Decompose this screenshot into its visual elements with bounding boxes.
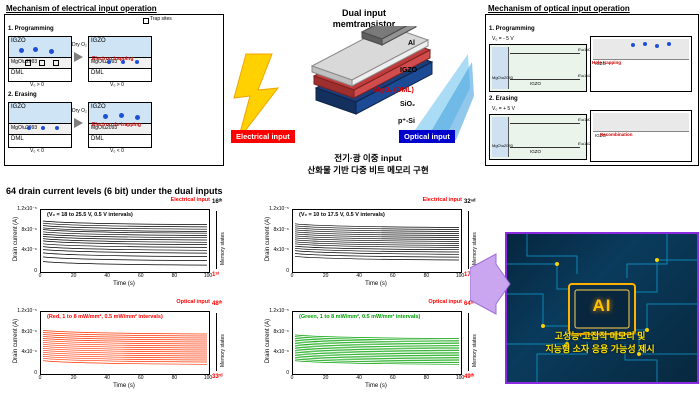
elec-section-1-label: 1. Programming [8, 26, 54, 32]
elec-section-2-label: 2. Erasing [8, 92, 37, 98]
elec-dry-o2-2: Dry O₂ [72, 108, 87, 114]
elec-dev-2-left-bias: V₀ < 0 [30, 148, 44, 154]
ai-korean-caption: 고성능·고집적 메모리 및 지능형 소자 응용 가능성 제시 [505, 330, 695, 356]
y-tick-label: 0 [258, 268, 289, 274]
memory-state-start-label: 49ᵗʰ [464, 374, 474, 380]
memtransistor-stack [300, 26, 440, 131]
x-tick-label: 40 [101, 375, 113, 381]
x-tick-label: 80 [420, 273, 432, 279]
memory-states-axis [216, 211, 217, 269]
elec-dev-2-right-bias: V₀ < 0 [110, 148, 124, 154]
center-caption-line1: 전기·광 이중 input [298, 152, 438, 164]
chart-traces [41, 210, 209, 272]
y-tick-label: 0 [6, 268, 37, 274]
chart-bottom-right: Optical input(Green, 1 to 8 mW/mm², 0.5 … [258, 300, 488, 392]
y-tick-label: 8x10⁻⁶ [6, 329, 37, 335]
chart-input-label: Optical input [428, 299, 462, 305]
y-tick-label: 1.2x10⁻⁵ [258, 206, 289, 212]
y-tick-label: 4x10⁻⁶ [258, 247, 289, 253]
x-axis-label: Time (s) [292, 383, 460, 389]
elec-dev-1-left: IGZO MgO\u2093 DML [8, 36, 72, 82]
y-axis-label: Drain current (A) [13, 199, 19, 279]
memory-state-end-label: 48ᵗʰ [212, 301, 222, 307]
ai-application-image: AI [505, 232, 699, 384]
elec-dev-1-left-bias: V₀ > 0 [30, 82, 44, 88]
memory-states-label: Memory states [220, 215, 226, 265]
x-tick-label: 40 [101, 273, 113, 279]
memory-states-label: Memory states [220, 317, 226, 367]
x-axis-label: Time (s) [292, 281, 460, 287]
opt-bias-2: V₀ = + 5 V [492, 106, 515, 112]
elec-process-2: Electron de-trapping [92, 122, 141, 128]
y-axis-label: Drain current (A) [13, 301, 19, 381]
chart-input-label: Electrical input [171, 197, 210, 203]
memory-states-axis [216, 313, 217, 371]
x-tick-label: 60 [135, 375, 147, 381]
layer-label-sio2: SiO₂ [400, 101, 415, 108]
opt-band-diagram-1: MgO\u2093 IGZO E\u1d04 E\u1d20 [489, 44, 587, 92]
x-tick-label: 0 [286, 375, 298, 381]
chart-traces [41, 312, 209, 374]
center-caption-line2: 산화물 기반 다중 비트 메모리 구현 [298, 164, 438, 176]
chart-bottom-left: Optical input(Red, 1 to 8 mW/mm², 0.5 mW… [6, 300, 236, 392]
memory-state-end-label: 32ⁿᵈ [464, 199, 475, 205]
x-tick-label: 20 [320, 375, 332, 381]
y-tick-label: 8x10⁻⁶ [258, 329, 289, 335]
x-tick-label: 60 [387, 273, 399, 279]
chart-top-left: Electrical input(V₀ = 18 to 25.5 V, 0.5 … [6, 198, 236, 290]
chart-traces [293, 312, 461, 374]
opt-section-2-label: 2. Erasing [489, 96, 518, 102]
chart-traces [293, 210, 461, 272]
flow-arrow-icon [470, 250, 512, 320]
chart-plot-area: (V₀ = 10 to 17.5 V, 0.5 V intervals) [292, 209, 462, 273]
y-tick-label: 0 [258, 370, 289, 376]
memory-states-axis [468, 211, 469, 269]
chart-plot-area: (Green, 1 to 8 mW/mm², 0.5 mW/mm² interv… [292, 311, 462, 375]
y-tick-label: 4x10⁻⁶ [258, 349, 289, 355]
memory-state-start-label: 33ʳᵈ [212, 374, 223, 380]
electrical-input-bolt-icon [226, 52, 296, 142]
x-tick-label: 80 [168, 375, 180, 381]
x-tick-label: 40 [353, 375, 365, 381]
elec-process-1: Electron trapping [92, 56, 133, 62]
elec-arrow-1 [74, 52, 83, 62]
x-tick-label: 0 [34, 375, 46, 381]
elec-dev-2-left: IGZO MgO\u2093 DML [8, 102, 72, 148]
layer-label-igzo: IGZO [400, 67, 417, 74]
memory-states-axis [468, 313, 469, 371]
ai-chip-label: AI [507, 296, 697, 316]
opt-band-diagram-2: MgO\u2093 IGZO E\u1d04 E\u1d20 [489, 114, 587, 160]
x-tick-label: 40 [353, 273, 365, 279]
electrical-input-badge: Electrical input [231, 130, 295, 143]
trap-sites-note: Trap sites [150, 16, 172, 22]
opt-process-2: Recombination [600, 132, 633, 137]
optical-panel-title: Mechanism of optical input operation [488, 4, 630, 13]
x-tick-label: 0 [286, 273, 298, 279]
y-tick-label: 4x10⁻⁶ [6, 349, 37, 355]
memory-state-start-label: 1ˢᵗ [212, 272, 219, 278]
opt-process-1: Hole trapping [592, 60, 621, 65]
layer-label-psi: p⁺-Si [398, 117, 415, 125]
elec-arrow-2 [74, 118, 83, 128]
x-tick-label: 20 [68, 375, 80, 381]
y-tick-label: 1.2x10⁻⁵ [6, 308, 37, 314]
chart-plot-area: (V₀ = 18 to 25.5 V, 0.5 V intervals) [40, 209, 210, 273]
x-tick-label: 60 [135, 273, 147, 279]
y-axis-label: Drain current (A) [265, 301, 271, 381]
y-axis-label: Drain current (A) [265, 199, 271, 279]
elec-dev-1-right-bias: V₀ > 0 [110, 82, 124, 88]
y-tick-label: 4x10⁻⁶ [6, 247, 37, 253]
y-tick-label: 8x10⁻⁶ [6, 227, 37, 233]
charts-section-title: 64 drain current levels (6 bit) under th… [6, 186, 223, 196]
x-tick-label: 60 [387, 375, 399, 381]
y-tick-label: 0 [6, 370, 37, 376]
chart-plot-area: (Red, 1 to 8 mW/mm², 0.5 mW/mm² interval… [40, 311, 210, 375]
trap-site-marker-icon [143, 18, 149, 24]
elec-dry-o2-1: Dry O₂ [72, 42, 87, 48]
ai-caption-line1: 고성능·고집적 메모리 및 [505, 330, 695, 343]
x-tick-label: 80 [420, 375, 432, 381]
center-korean-caption: 전기·광 이중 input 산화물 기반 다중 비트 메모리 구현 [298, 152, 438, 176]
memory-state-end-label: 16ᵗʰ [212, 199, 222, 205]
x-axis-label: Time (s) [40, 281, 208, 287]
y-tick-label: 1.2x10⁻⁵ [258, 308, 289, 314]
opt-section-1-label: 1. Programming [489, 26, 535, 32]
x-tick-label: 80 [168, 273, 180, 279]
x-axis-label: Time (s) [40, 383, 208, 389]
chart-top-right: Electrical input(V₀ = 10 to 17.5 V, 0.5 … [258, 198, 488, 290]
x-tick-label: 20 [320, 273, 332, 279]
y-tick-label: 1.2x10⁻⁵ [6, 206, 37, 212]
y-tick-label: 8x10⁻⁶ [258, 227, 289, 233]
chart-input-label: Electrical input [423, 197, 462, 203]
x-tick-label: 20 [68, 273, 80, 279]
layer-label-mgox-dml: MgOₓ (DML) [374, 87, 414, 94]
chart-input-label: Optical input [176, 299, 210, 305]
x-tick-label: 0 [34, 273, 46, 279]
optical-input-badge: Optical input [399, 130, 455, 143]
memory-states-label: Memory states [472, 317, 478, 367]
ai-caption-line2: 지능형 소자 응용 가능성 제시 [505, 343, 695, 356]
opt-bias-1: V₀ = - 5 V [492, 36, 514, 42]
layer-label-al: Al [408, 40, 415, 47]
electrical-panel-title: Mechanism of electrical input operation [6, 4, 157, 13]
